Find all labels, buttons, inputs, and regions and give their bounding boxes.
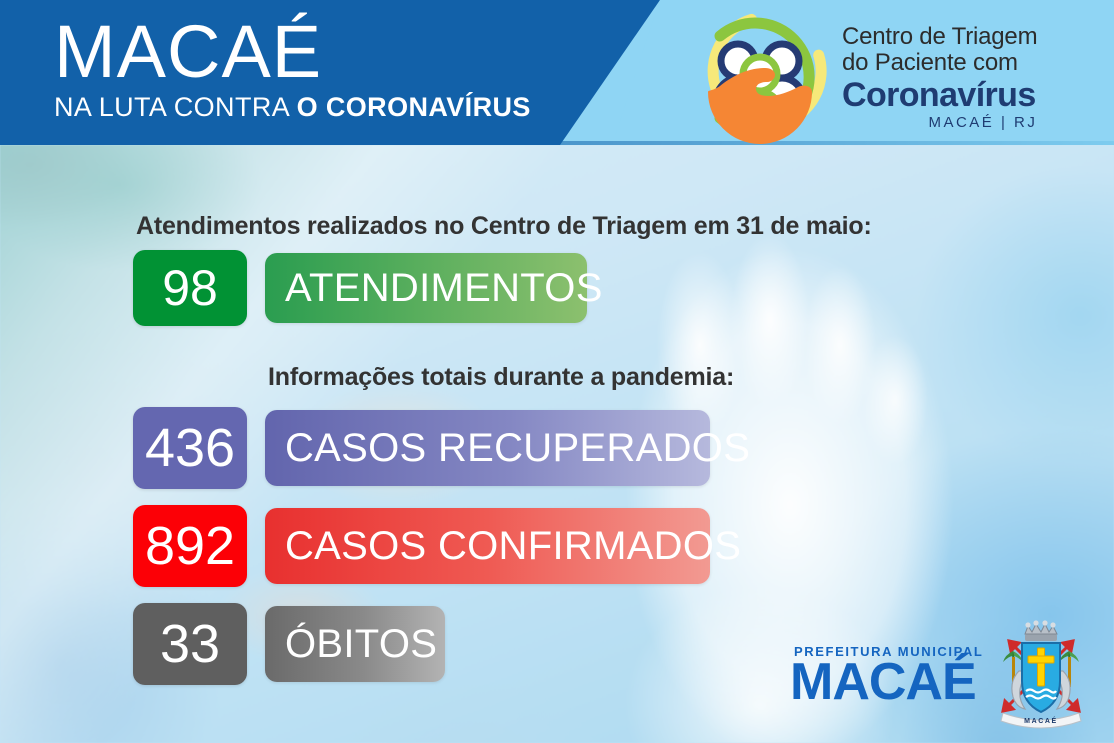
total-section-title: Informações totais durante a pandemia:: [268, 363, 734, 392]
logo-city-label: MACAÉ | RJ: [842, 114, 1037, 132]
poster-header: MACAÉ NA LUTA CONTRA O CORONAVÍRUS: [0, 0, 1114, 145]
macae-coat-of-arms-icon: MACAÉ: [989, 617, 1093, 735]
triage-center-logo: Centro de Triagem do Paciente com Corona…: [690, 6, 1037, 145]
stat-row-recuperados: 436 CASOS RECUPERADOS: [133, 407, 710, 489]
stat-value-atendimentos: 98: [133, 250, 247, 326]
stat-row-confirmados: 892 CASOS CONFIRMADOS: [133, 505, 710, 587]
brand-subtitle-light: NA LUTA CONTRA: [54, 92, 297, 122]
prefeitura-wordmark: PREFEITURA MUNICIPAL MACAÉ: [790, 644, 983, 709]
daily-section-title: Atendimentos realizados no Centro de Tri…: [136, 212, 872, 241]
stat-row-obitos: 33 ÓBITOS: [133, 603, 445, 685]
stat-value-obitos: 33: [133, 603, 247, 685]
brand-subtitle-bold: O CORONAVÍRUS: [297, 92, 531, 122]
stat-row-atendimentos: 98 ATENDIMENTOS: [133, 250, 587, 326]
prefeitura-city-name: MACAÉ: [790, 655, 983, 709]
logo-line-1: Centro de Triagem: [842, 24, 1037, 50]
stat-label-recuperados: CASOS RECUPERADOS: [265, 410, 710, 486]
stat-label-confirmados: CASOS CONFIRMADOS: [265, 508, 710, 584]
logo-line-2: do Paciente com: [842, 50, 1037, 76]
covid-bulletin-poster: MACAÉ NA LUTA CONTRA O CORONAVÍRUS: [0, 0, 1114, 743]
logo-coronavirus-word: Coronavírus: [842, 77, 1037, 113]
brand-subtitle: NA LUTA CONTRA O CORONAVÍRUS: [54, 92, 531, 122]
people-in-hand-icon: [690, 6, 830, 145]
prefeitura-logo: PREFEITURA MUNICIPAL MACAÉ: [790, 617, 1093, 735]
stat-label-atendimentos: ATENDIMENTOS: [265, 253, 587, 323]
logo-text-block: Centro de Triagem do Paciente com Corona…: [842, 20, 1037, 132]
brand-block: MACAÉ NA LUTA CONTRA O CORONAVÍRUS: [54, 14, 531, 122]
svg-text:MACAÉ: MACAÉ: [1025, 716, 1059, 725]
stat-label-obitos: ÓBITOS: [265, 606, 445, 682]
brand-title: MACAÉ: [54, 14, 531, 90]
stat-value-confirmados: 892: [133, 505, 247, 587]
stat-value-recuperados: 436: [133, 407, 247, 489]
